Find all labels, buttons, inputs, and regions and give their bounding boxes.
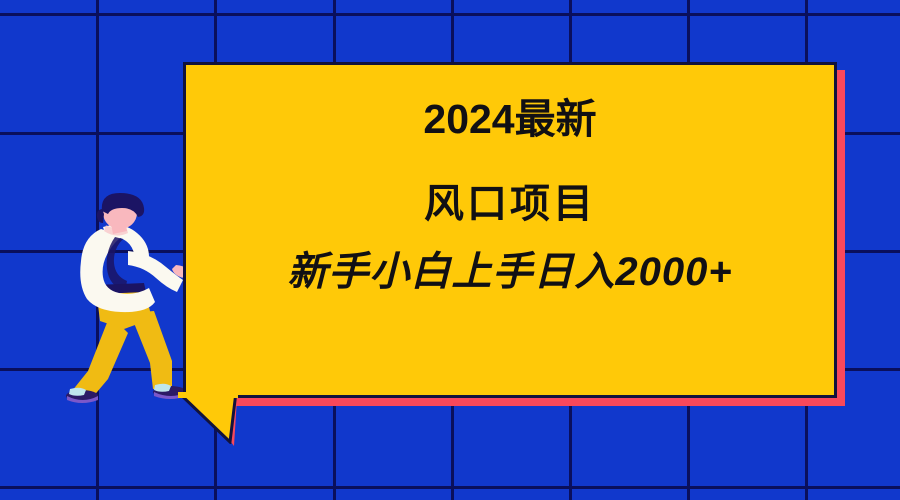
headline-line-3: 新手小白上手日入2000+ [287,251,732,293]
headline-line-1: 2024最新 [423,98,596,141]
grid-line-horizontal [0,486,900,489]
grid-line-horizontal [0,13,900,16]
headline-line-2: 风口项目 [424,183,596,225]
poster-canvas: 2024最新 风口项目 新手小白上手日入2000+ [0,0,900,500]
speech-bubble-tail [178,392,248,444]
speech-bubble-text: 2024最新 风口项目 新手小白上手日入2000+ [183,62,837,398]
person-pushing-illustration [58,193,188,408]
